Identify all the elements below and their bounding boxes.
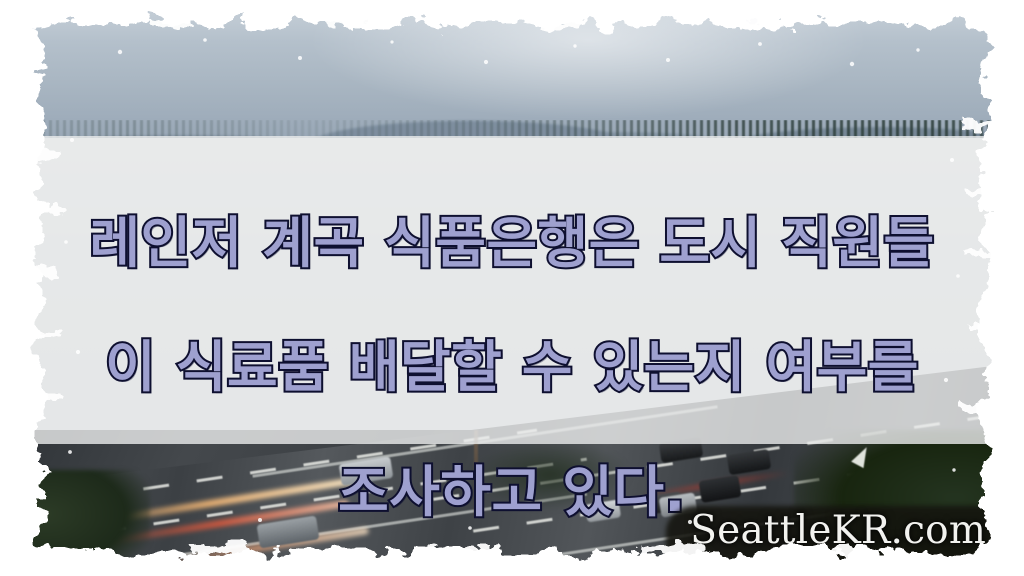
caption-line-2: 이 식료품 배달할 수 있는지 여부를 <box>28 336 996 398</box>
watermark-sitename: SeattleKR.com <box>676 509 998 558</box>
caption-line-1: 레인저 계곡 식품은행은 도시 직원들 <box>28 212 996 274</box>
news-image-card: 레인저 계곡 식품은행은 도시 직원들 이 식료품 배달할 수 있는지 여부를 … <box>0 0 1024 576</box>
